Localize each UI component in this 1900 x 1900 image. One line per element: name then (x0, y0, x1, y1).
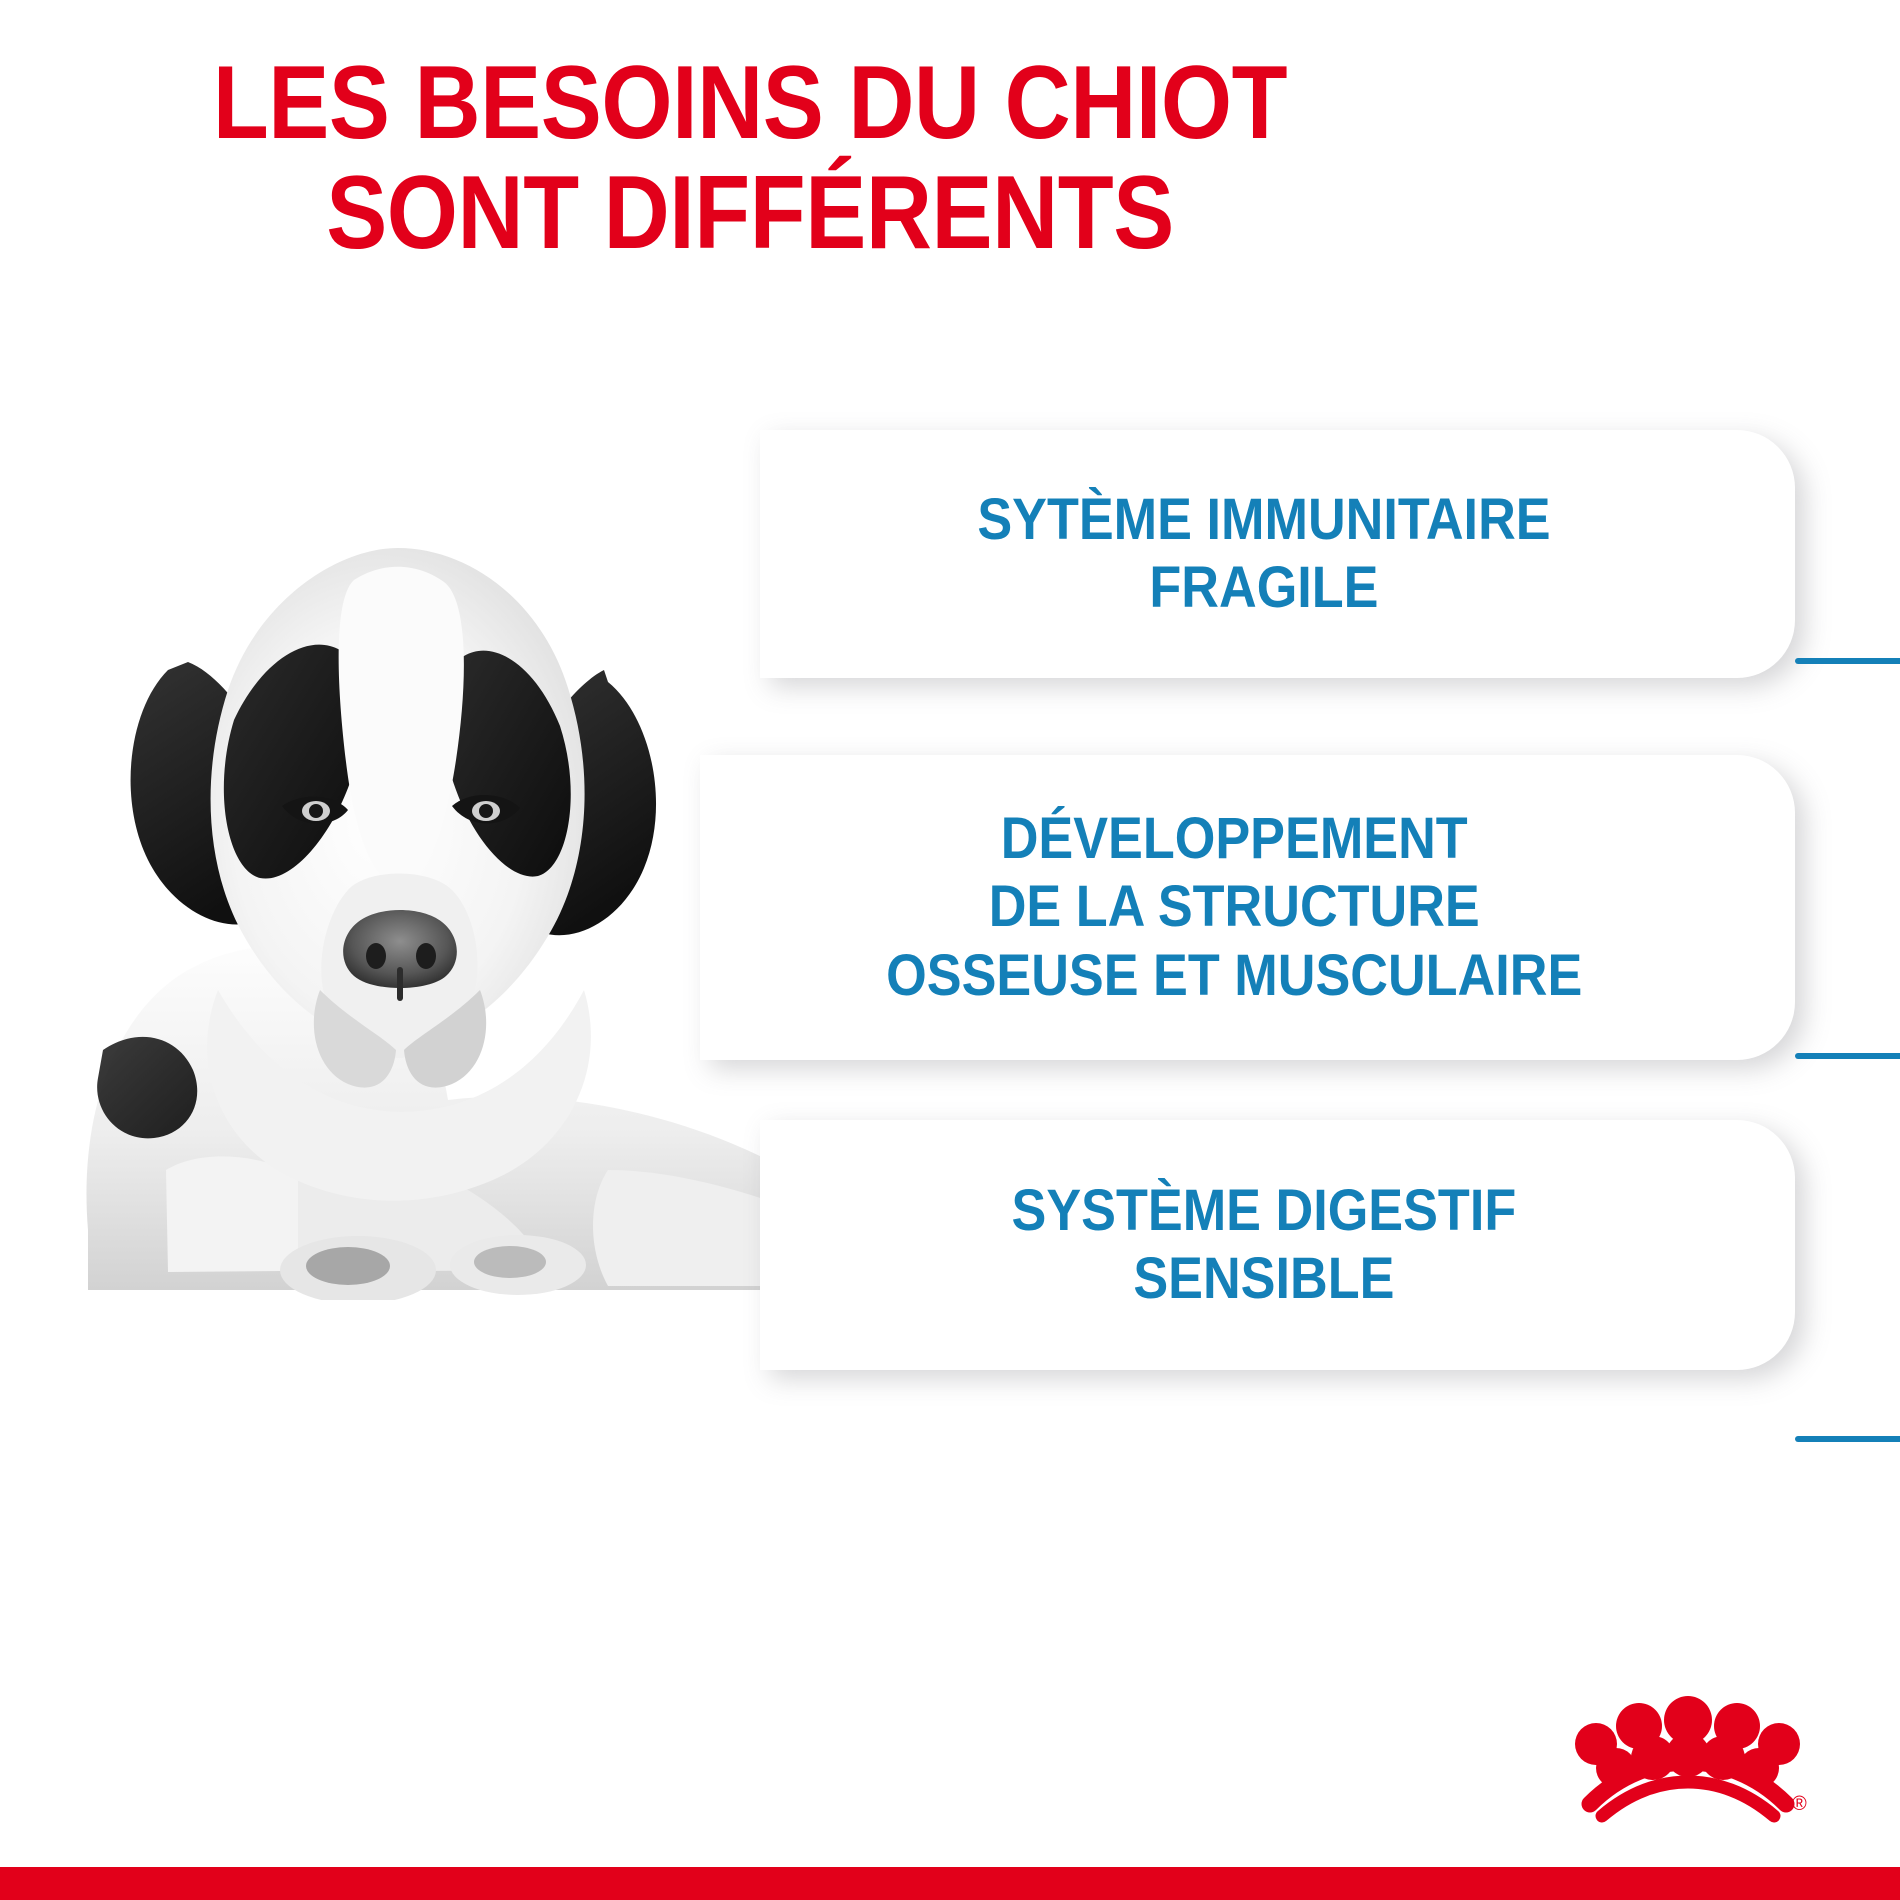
callout-card-bone-muscle[interactable]: DÉVELOPPEMENT DE LA STRUCTURE OSSEUSE ET… (700, 755, 1795, 1060)
connector-line-bone-muscle (1795, 1053, 1900, 1059)
callout-card-digestive[interactable]: SYSTÈME DIGESTIF SENSIBLE (760, 1120, 1795, 1370)
connector-line-digestive (1795, 1436, 1900, 1442)
svg-text:®: ® (1792, 1793, 1807, 1815)
callout-text-digestive: SYSTÈME DIGESTIF SENSIBLE (985, 1177, 1571, 1314)
poster-canvas: LES BESOINS DU CHIOT SONT DIFFÉRENTS (0, 0, 1900, 1900)
page-title: LES BESOINS DU CHIOT SONT DIFFÉRENTS (90, 48, 1410, 268)
callout-text-immune: SYTÈME IMMUNITAIRE FRAGILE (950, 486, 1604, 623)
callout-text-bone-muscle: DÉVELOPPEMENT DE LA STRUCTURE OSSEUSE ET… (859, 805, 1636, 1010)
page-title-line-1: LES BESOINS DU CHIOT (90, 48, 1410, 158)
royal-canin-crown-icon: ® (1568, 1682, 1808, 1832)
footer-bar (0, 1867, 1900, 1900)
page-title-line-2: SONT DIFFÉRENTS (90, 158, 1410, 268)
connector-line-immune (1795, 658, 1900, 664)
callout-card-immune[interactable]: SYTÈME IMMUNITAIRE FRAGILE (760, 430, 1795, 678)
